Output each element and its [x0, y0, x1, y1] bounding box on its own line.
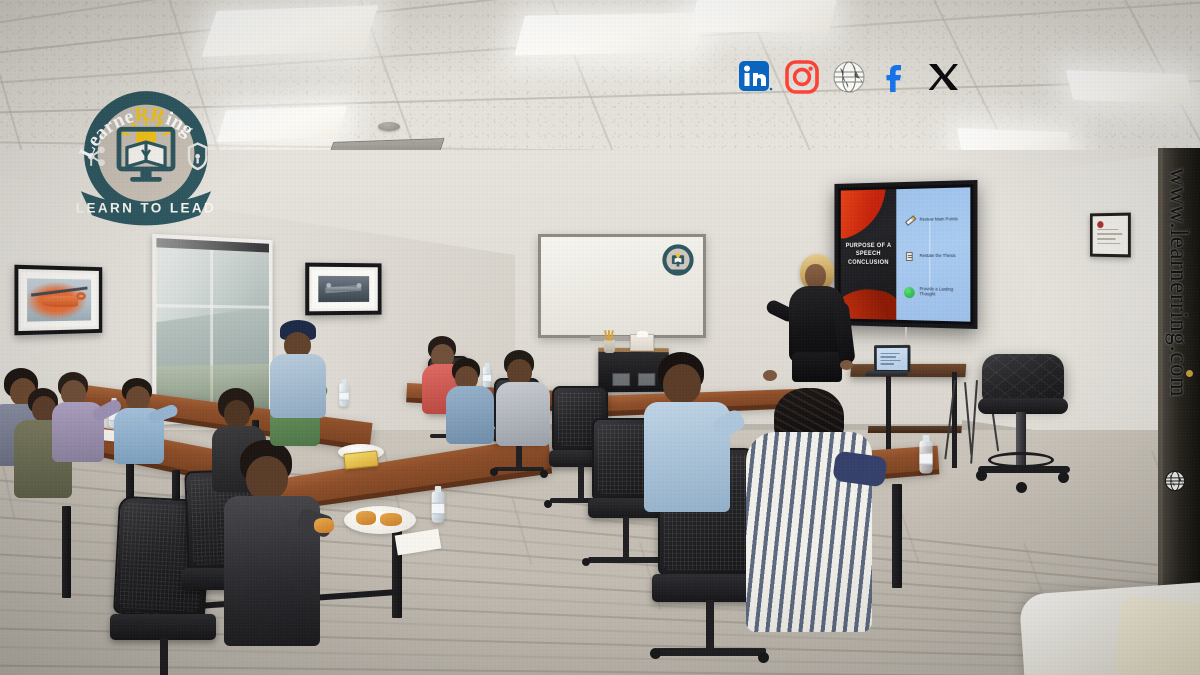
certificate-text-line [1097, 229, 1118, 231]
ceiling-light-panel [201, 5, 378, 57]
x-twitter-icon[interactable] [925, 59, 961, 95]
chair-post [623, 517, 629, 559]
social-icons-row [737, 59, 961, 95]
presenter-skirt [792, 352, 842, 382]
laptop-text-line [881, 353, 899, 355]
slide-body-panel: Review Main Points Restate the Thesis Pr… [896, 187, 970, 321]
slide-bullet: Review Main Points [904, 214, 964, 226]
white-cloth-fold [1114, 596, 1200, 675]
presenter-right-hand [840, 360, 853, 370]
slide-bullet: Provide a Lasting Thought [904, 287, 964, 299]
certificate-text-line [1097, 233, 1122, 235]
certificate-text-line [1097, 243, 1119, 245]
smoke-detector [378, 122, 400, 131]
chair-base [656, 648, 766, 656]
laptop-text-line [881, 360, 901, 362]
picture-art [27, 278, 91, 321]
presentation-screen: PURPOSE OF A SPEECH CONCLUSION Review Ma… [834, 180, 977, 329]
water-bottle [919, 441, 932, 474]
osprey-fuselage [328, 287, 361, 291]
slide-title: PURPOSE OF A SPEECH CONCLUSION [841, 242, 896, 266]
laptop-text-line [881, 356, 896, 358]
certificate-text-line [1097, 238, 1115, 240]
classroom-photo: PURPOSE OF A SPEECH CONCLUSION Review Ma… [0, 0, 1200, 675]
pencil-cup-contents [604, 330, 614, 341]
window-glare [152, 234, 272, 323]
ceiling-light-panel [514, 12, 706, 55]
facebook-icon[interactable] [878, 59, 914, 95]
bottle-label [432, 503, 445, 514]
ceiling-light-panel [217, 106, 348, 142]
slide-bullet-text: Restate the Thesis [920, 254, 956, 259]
bottle-label [919, 453, 932, 464]
certificate-seal [1097, 221, 1103, 228]
laptop-text-line [881, 363, 894, 365]
tissue-box [630, 334, 654, 351]
student-torso [496, 382, 550, 446]
ceiling-grid-line [0, 0, 1200, 12]
stool-caster [1016, 482, 1027, 493]
snack-food [356, 511, 376, 525]
slide-bullet-text: Provide a Lasting Thought [920, 287, 965, 297]
water-bottle [339, 383, 348, 406]
paper-plate [344, 506, 416, 534]
supply-cup [604, 340, 615, 353]
chair-base [588, 557, 664, 563]
slide-bullet: Restate the Thesis [904, 251, 964, 262]
framed-photo-helicopter [14, 265, 102, 336]
ceiling-light-panel [1066, 70, 1195, 104]
logo-tagline: LEARN TO LEAD [76, 201, 216, 216]
whiteboard [538, 234, 706, 338]
osprey-artwork [318, 276, 369, 302]
chair-caster [582, 558, 590, 566]
table-leg [892, 484, 902, 588]
slide-bullet-text: Review Main Points [920, 218, 958, 223]
stool-caster [1058, 472, 1069, 483]
water-bottle [432, 491, 445, 523]
table-leg [62, 506, 71, 598]
chair-post [706, 600, 714, 652]
url-globe-icon [1164, 470, 1186, 492]
document-icon [904, 251, 915, 262]
bottle-label [339, 392, 348, 400]
green-dot-icon [904, 287, 915, 298]
presenter-left-hand [763, 370, 777, 381]
chair-caster [540, 470, 548, 478]
chair-post [160, 638, 168, 675]
helicopter-tail [76, 292, 86, 300]
laptop-keyboard-base[interactable] [865, 371, 909, 376]
chair-seat [110, 614, 216, 640]
bottle-label [483, 374, 491, 381]
picture-art [318, 276, 369, 302]
instagram-icon[interactable] [784, 59, 820, 95]
cabinet-door[interactable] [612, 373, 630, 386]
framed-photo-osprey [305, 263, 381, 316]
presenter-laptop[interactable] [874, 345, 911, 373]
student-head [246, 456, 288, 500]
student-torso [446, 386, 494, 444]
chair-caster [758, 652, 769, 663]
slide-accent-shape [841, 189, 896, 242]
cable [970, 380, 978, 464]
globe-icon[interactable] [831, 59, 867, 95]
water-bottle [483, 367, 491, 388]
ceiling-light-panel [689, 0, 837, 32]
laptop-screen-content [877, 348, 908, 370]
drafting-stool-base [978, 466, 1070, 473]
learnerring-logo: Learne RR ing LEARN TO LEAD [66, 80, 226, 227]
snack-food [380, 513, 402, 526]
student-head [663, 364, 701, 404]
drafting-stool-seat[interactable] [982, 354, 1064, 404]
student-head [224, 400, 250, 428]
slide-title-panel: PURPOSE OF A SPEECH CONCLUSION [841, 189, 896, 320]
snack-food [314, 518, 334, 533]
chair-base [494, 467, 544, 471]
helicopter-body [42, 296, 78, 307]
chair-caster [650, 648, 661, 659]
framed-certificate [1090, 213, 1131, 258]
stool-caster [976, 470, 987, 481]
chair-post [578, 466, 584, 500]
helicopter-artwork [27, 278, 91, 321]
student-torso [270, 354, 326, 418]
cabinet-door[interactable] [638, 373, 655, 386]
chair-caster [490, 468, 498, 476]
whiteboard-logo-decal [661, 243, 695, 277]
pencil-icon [902, 213, 917, 228]
slide: PURPOSE OF A SPEECH CONCLUSION Review Ma… [841, 187, 971, 321]
website-url[interactable]: www.learnerring.com [1164, 168, 1192, 397]
linkedin-icon[interactable] [737, 59, 773, 95]
chair-caster [544, 500, 552, 508]
